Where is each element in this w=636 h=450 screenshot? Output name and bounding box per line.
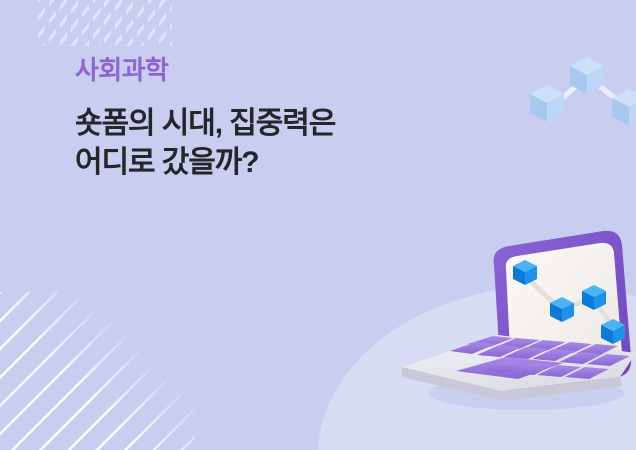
category-label: 사회과학 [75, 54, 495, 87]
diagonal-lines-pattern [0, 292, 195, 450]
floating-cube-right [612, 89, 636, 126]
diagonal-dash-pattern [38, 0, 172, 46]
text-block: 사회과학 숏폼의 시대, 집중력은 어디로 갔을까? [75, 54, 495, 183]
floating-cube-cluster [520, 46, 636, 156]
article-thumbnail-card: 사회과학 숏폼의 시대, 집중력은 어디로 갔을까? [0, 0, 636, 450]
page-title: 숏폼의 시대, 집중력은 어디로 갔을까? [75, 104, 495, 183]
floating-cube-left [530, 85, 564, 122]
laptop-illustration [398, 225, 636, 415]
